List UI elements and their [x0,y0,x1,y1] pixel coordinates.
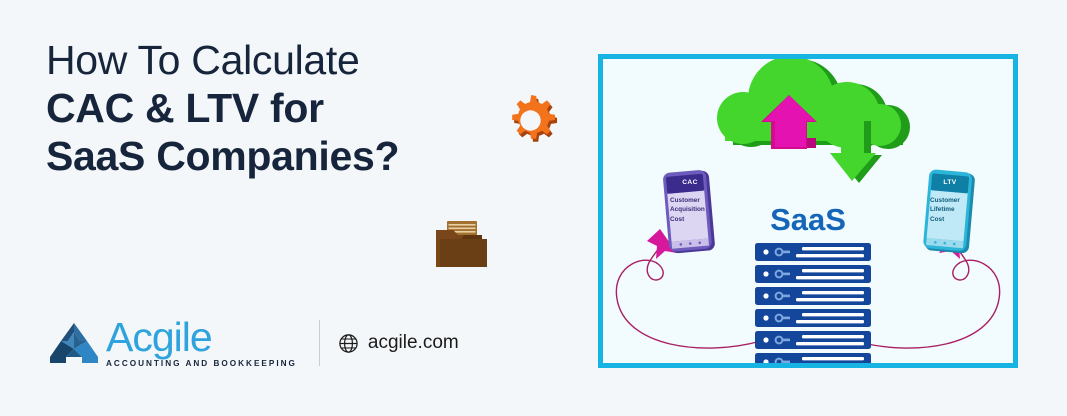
server-unit [755,287,871,305]
brand-logo-row: Acgile ACCOUNTING AND BOOKKEEPING acgile… [46,312,459,374]
headline-line-1: How To Calculate [46,38,516,84]
headline-line-3: SaaS Companies? [46,134,516,180]
website-link[interactable]: acgile.com [338,332,459,354]
phone-card-cac: CAC Customer Acquisition Cost [661,169,719,255]
phone-title-cac: CAC [661,179,719,186]
gear-icon [500,93,564,157]
server-stack [755,243,871,363]
folder-icon [430,213,494,275]
phone-card-ltv: LTV Customer Lifetime Cost [921,169,979,255]
logo-wordmark: Acgile [106,318,297,357]
banner-canvas: How To Calculate CAC & LTV for SaaS Comp… [0,0,1067,416]
server-unit [755,309,871,327]
phone-title-ltv: LTV [921,179,979,186]
phone-body-cac: Customer Acquisition Cost [670,196,710,224]
saas-illustration-panel: SaaS CAC Customer Acquisition Cost [598,54,1018,368]
logo-divider [319,320,320,366]
server-unit [755,265,871,283]
headline-line-2: CAC & LTV for [46,86,516,132]
website-url-text: acgile.com [368,332,459,354]
server-unit [755,243,871,261]
acgile-logo-mark [46,319,102,367]
server-unit [755,353,871,363]
phone-body-ltv: Customer Lifetime Cost [930,196,970,224]
logo-tagline: ACCOUNTING AND BOOKKEEPING [106,359,297,368]
server-unit [755,331,871,349]
page-title: How To Calculate CAC & LTV for SaaS Comp… [46,38,516,180]
globe-icon [338,333,359,354]
cloud-shape [717,59,901,148]
